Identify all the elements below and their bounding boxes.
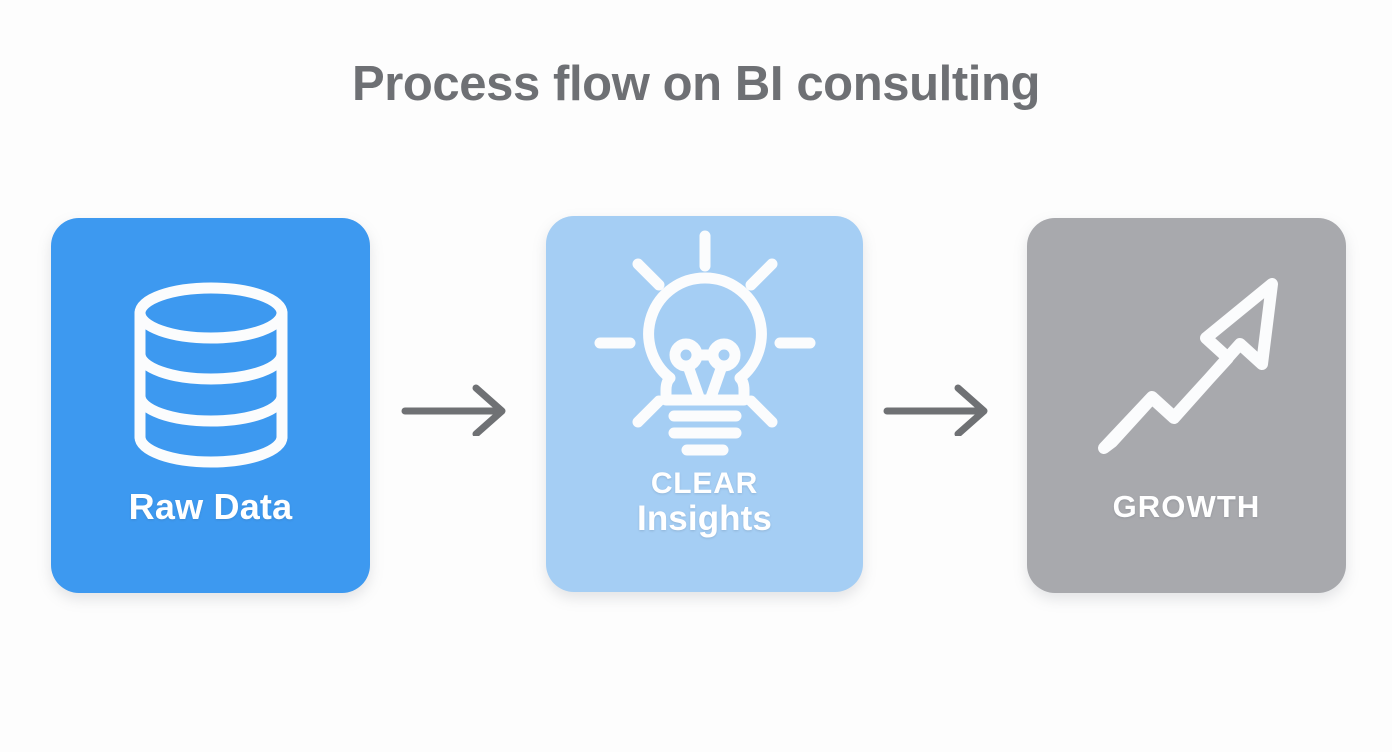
connector-arrow-1 (398, 376, 514, 436)
growth-arrow-icon-wrap (1082, 270, 1292, 470)
stage-card-growth[interactable]: GROWTH (1027, 218, 1346, 593)
stage-card-raw-data[interactable]: Raw Data (51, 218, 370, 593)
stage-card-clear-insights[interactable]: CLEAR Insights (546, 216, 863, 592)
stage-label-clear-insights: CLEAR Insights (637, 468, 772, 538)
page-title: Process flow on BI consulting (0, 58, 1392, 112)
stage-label-clear: CLEAR (637, 468, 772, 500)
connector-arrow-2 (880, 376, 996, 436)
right-arrow-icon (880, 376, 996, 436)
right-arrow-icon (398, 376, 514, 436)
diagram-canvas: Process flow on BI consulting Raw Data (0, 0, 1392, 752)
growth-arrow-icon (1082, 270, 1292, 470)
stage-label-growth: GROWTH (1113, 490, 1261, 523)
lightbulb-icon-wrap (592, 230, 818, 468)
stage-label-insights: Insights (637, 500, 772, 538)
process-flow-row: Raw Data (0, 216, 1392, 596)
database-icon (123, 280, 299, 470)
stage-label-raw-data: Raw Data (129, 488, 293, 527)
lightbulb-icon (592, 230, 818, 468)
database-icon-wrap (123, 280, 299, 470)
